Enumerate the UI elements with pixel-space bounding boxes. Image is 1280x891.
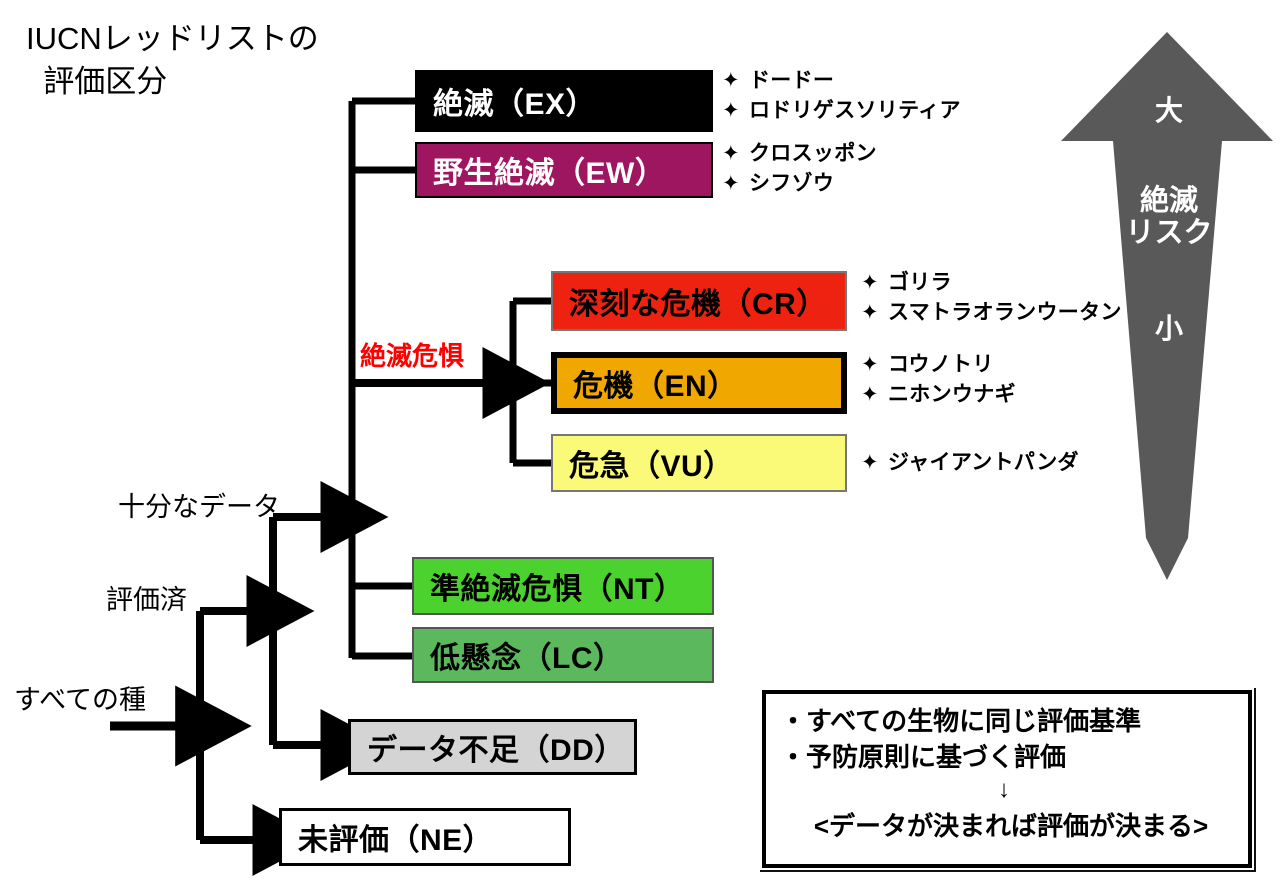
example-name: ロドリゲスソリティア bbox=[749, 96, 961, 126]
note-line-2: ・予防原則に基づく評価 bbox=[780, 740, 1248, 776]
category-label-nt: 準絶滅危惧（NT） bbox=[430, 564, 685, 608]
down-arrow-icon: ↓ bbox=[780, 778, 1248, 802]
category-box-ne[interactable]: 未評価（NE） bbox=[279, 808, 571, 866]
category-box-vu[interactable]: 危急（VU） bbox=[551, 434, 847, 492]
category-label-ew: 野生絶滅（EW） bbox=[433, 148, 665, 192]
flow-label-all-species: すべての種 bbox=[14, 678, 146, 717]
category-box-dd[interactable]: データ不足（DD） bbox=[348, 719, 637, 775]
list-item: ✦ ロドリゲスソリティア bbox=[722, 96, 961, 126]
bullet-star-icon: ✦ bbox=[722, 66, 749, 96]
category-label-ex: 絶滅（EX） bbox=[433, 79, 596, 123]
example-name: クロスッポン bbox=[749, 139, 877, 169]
category-label-en: 危機（EN） bbox=[573, 361, 738, 405]
example-list-ew: ✦ クロスッポン ✦ シフゾウ bbox=[722, 139, 877, 199]
category-label-dd: データ不足（DD） bbox=[367, 725, 625, 769]
iucn-red-list-diagram: IUCNレッドリストの 評価区分 絶滅（EX） 野生絶滅（EW） 深刻な危機（C… bbox=[0, 0, 1280, 891]
page-title: IUCNレッドリストの 評価区分 bbox=[26, 18, 319, 104]
list-item: ✦ ドードー bbox=[722, 66, 961, 96]
risk-label-low: 小 bbox=[1137, 313, 1201, 344]
list-item: ✦ ニホンウナギ bbox=[861, 380, 1016, 410]
example-list-ex: ✦ ドードー ✦ ロドリゲスソリティア bbox=[722, 66, 961, 126]
note-conclusion: <データが決まれば評価が決まる> bbox=[780, 806, 1248, 843]
list-item: ✦ クロスッポン bbox=[722, 139, 877, 169]
category-box-nt[interactable]: 準絶滅危惧（NT） bbox=[412, 557, 714, 615]
list-item: ✦ スマトラオランウータン bbox=[861, 298, 1122, 328]
list-item: ✦ シフゾウ bbox=[722, 169, 877, 199]
list-item: ✦ ジャイアントパンダ bbox=[861, 448, 1079, 478]
example-name: シフゾウ bbox=[749, 169, 834, 199]
example-name: ドードー bbox=[749, 66, 834, 96]
category-box-en[interactable]: 危機（EN） bbox=[551, 352, 847, 414]
bullet-star-icon: ✦ bbox=[722, 169, 749, 199]
risk-label-title: 絶滅 リスク bbox=[1114, 185, 1224, 250]
category-box-cr[interactable]: 深刻な危機（CR） bbox=[551, 271, 847, 331]
bullet-star-icon: ✦ bbox=[861, 380, 888, 410]
risk-label-line1: 絶滅 bbox=[1114, 185, 1224, 217]
category-label-vu: 危急（VU） bbox=[569, 441, 734, 485]
example-name: ゴリラ bbox=[888, 268, 952, 298]
note-line-1: ・すべての生物に同じ評価基準 bbox=[780, 704, 1248, 740]
note-box: ・すべての生物に同じ評価基準 ・予防原則に基づく評価 ↓ <データが決まれば評価… bbox=[762, 690, 1252, 868]
example-list-vu: ✦ ジャイアントパンダ bbox=[861, 448, 1079, 478]
example-name: ジャイアントパンダ bbox=[888, 448, 1079, 478]
example-name: コウノトリ bbox=[888, 350, 994, 380]
example-list-en: ✦ コウノトリ ✦ ニホンウナギ bbox=[861, 350, 1016, 410]
flow-label-threatened: 絶滅危惧 bbox=[360, 336, 464, 373]
example-list-cr: ✦ ゴリラ ✦ スマトラオランウータン bbox=[861, 268, 1122, 328]
bullet-star-icon: ✦ bbox=[722, 96, 749, 126]
category-label-ne: 未評価（NE） bbox=[298, 815, 493, 859]
example-name: ニホンウナギ bbox=[888, 380, 1016, 410]
risk-label-line2: リスク bbox=[1114, 217, 1224, 249]
list-item: ✦ コウノトリ bbox=[861, 350, 1016, 380]
flow-label-assessed: 評価済 bbox=[106, 578, 187, 617]
example-name: スマトラオランウータン bbox=[888, 298, 1122, 328]
category-box-ew[interactable]: 野生絶滅（EW） bbox=[415, 142, 713, 198]
list-item: ✦ ゴリラ bbox=[861, 268, 1122, 298]
category-box-lc[interactable]: 低懸念（LC） bbox=[412, 627, 714, 683]
category-label-cr: 深刻な危機（CR） bbox=[569, 279, 827, 323]
bullet-star-icon: ✦ bbox=[861, 298, 888, 328]
bullet-star-icon: ✦ bbox=[861, 268, 888, 298]
flow-label-enough-data: 十分なデータ bbox=[118, 485, 280, 524]
category-label-lc: 低懸念（LC） bbox=[430, 633, 624, 677]
bullet-star-icon: ✦ bbox=[861, 448, 888, 478]
bullet-star-icon: ✦ bbox=[861, 350, 888, 380]
bullet-star-icon: ✦ bbox=[722, 139, 749, 169]
category-box-ex[interactable]: 絶滅（EX） bbox=[415, 70, 713, 132]
risk-label-high: 大 bbox=[1137, 95, 1201, 126]
